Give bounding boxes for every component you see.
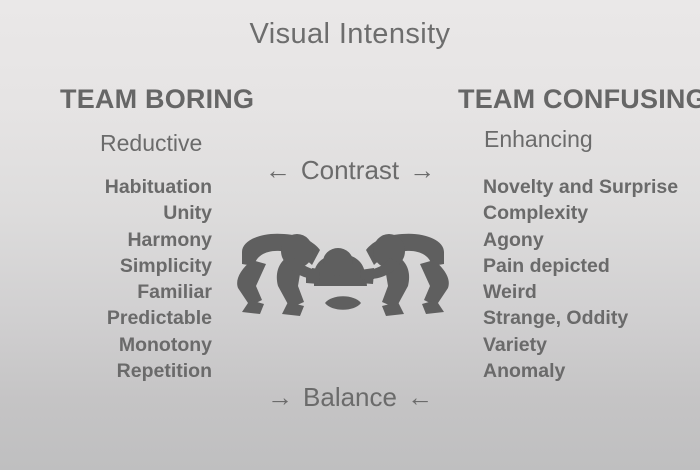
list-item: Monotony — [0, 332, 212, 358]
arrow-left-icon: ← — [407, 384, 433, 410]
list-item: Pain depicted — [483, 253, 698, 279]
list-item: Repetition — [0, 358, 212, 384]
team-confusing-trait-list: Novelty and Surprise Complexity Agony Pa… — [483, 174, 698, 384]
football-scrimmage-silhouette-icon — [228, 220, 458, 320]
list-item: Weird — [483, 279, 698, 305]
arrow-left-icon: ← — [265, 157, 291, 183]
list-item: Familiar — [0, 279, 212, 305]
list-item: Complexity — [483, 200, 698, 226]
list-item: Variety — [483, 332, 698, 358]
team-confusing-heading: TEAM CONFUSING — [458, 84, 700, 115]
list-item: Agony — [483, 227, 698, 253]
team-confusing-lead-word: Enhancing — [484, 126, 593, 153]
list-item: Predictable — [0, 305, 212, 331]
team-boring-lead-word: Reductive — [100, 130, 202, 157]
contrast-label-text: Contrast — [291, 155, 409, 186]
list-item: Simplicity — [0, 253, 212, 279]
list-item: Anomaly — [483, 358, 698, 384]
balance-label-text: Balance — [293, 382, 407, 413]
football-scrimmage-illustration — [228, 220, 458, 320]
contrast-axis-label: ←Contrast→ — [0, 155, 700, 186]
team-boring-trait-list: Habituation Unity Harmony Simplicity Fam… — [0, 174, 212, 384]
list-item: Strange, Oddity — [483, 305, 698, 331]
list-item: Harmony — [0, 227, 212, 253]
arrow-right-icon: → — [267, 384, 293, 410]
balance-axis-label: →Balance← — [0, 382, 700, 413]
football-icon — [325, 296, 361, 310]
arrow-right-icon: → — [409, 157, 435, 183]
list-item: Unity — [0, 200, 212, 226]
team-boring-heading: TEAM BORING — [60, 84, 254, 115]
page-title: Visual Intensity — [0, 18, 700, 51]
infographic-canvas: Visual Intensity TEAM BORING Reductive H… — [0, 0, 700, 470]
